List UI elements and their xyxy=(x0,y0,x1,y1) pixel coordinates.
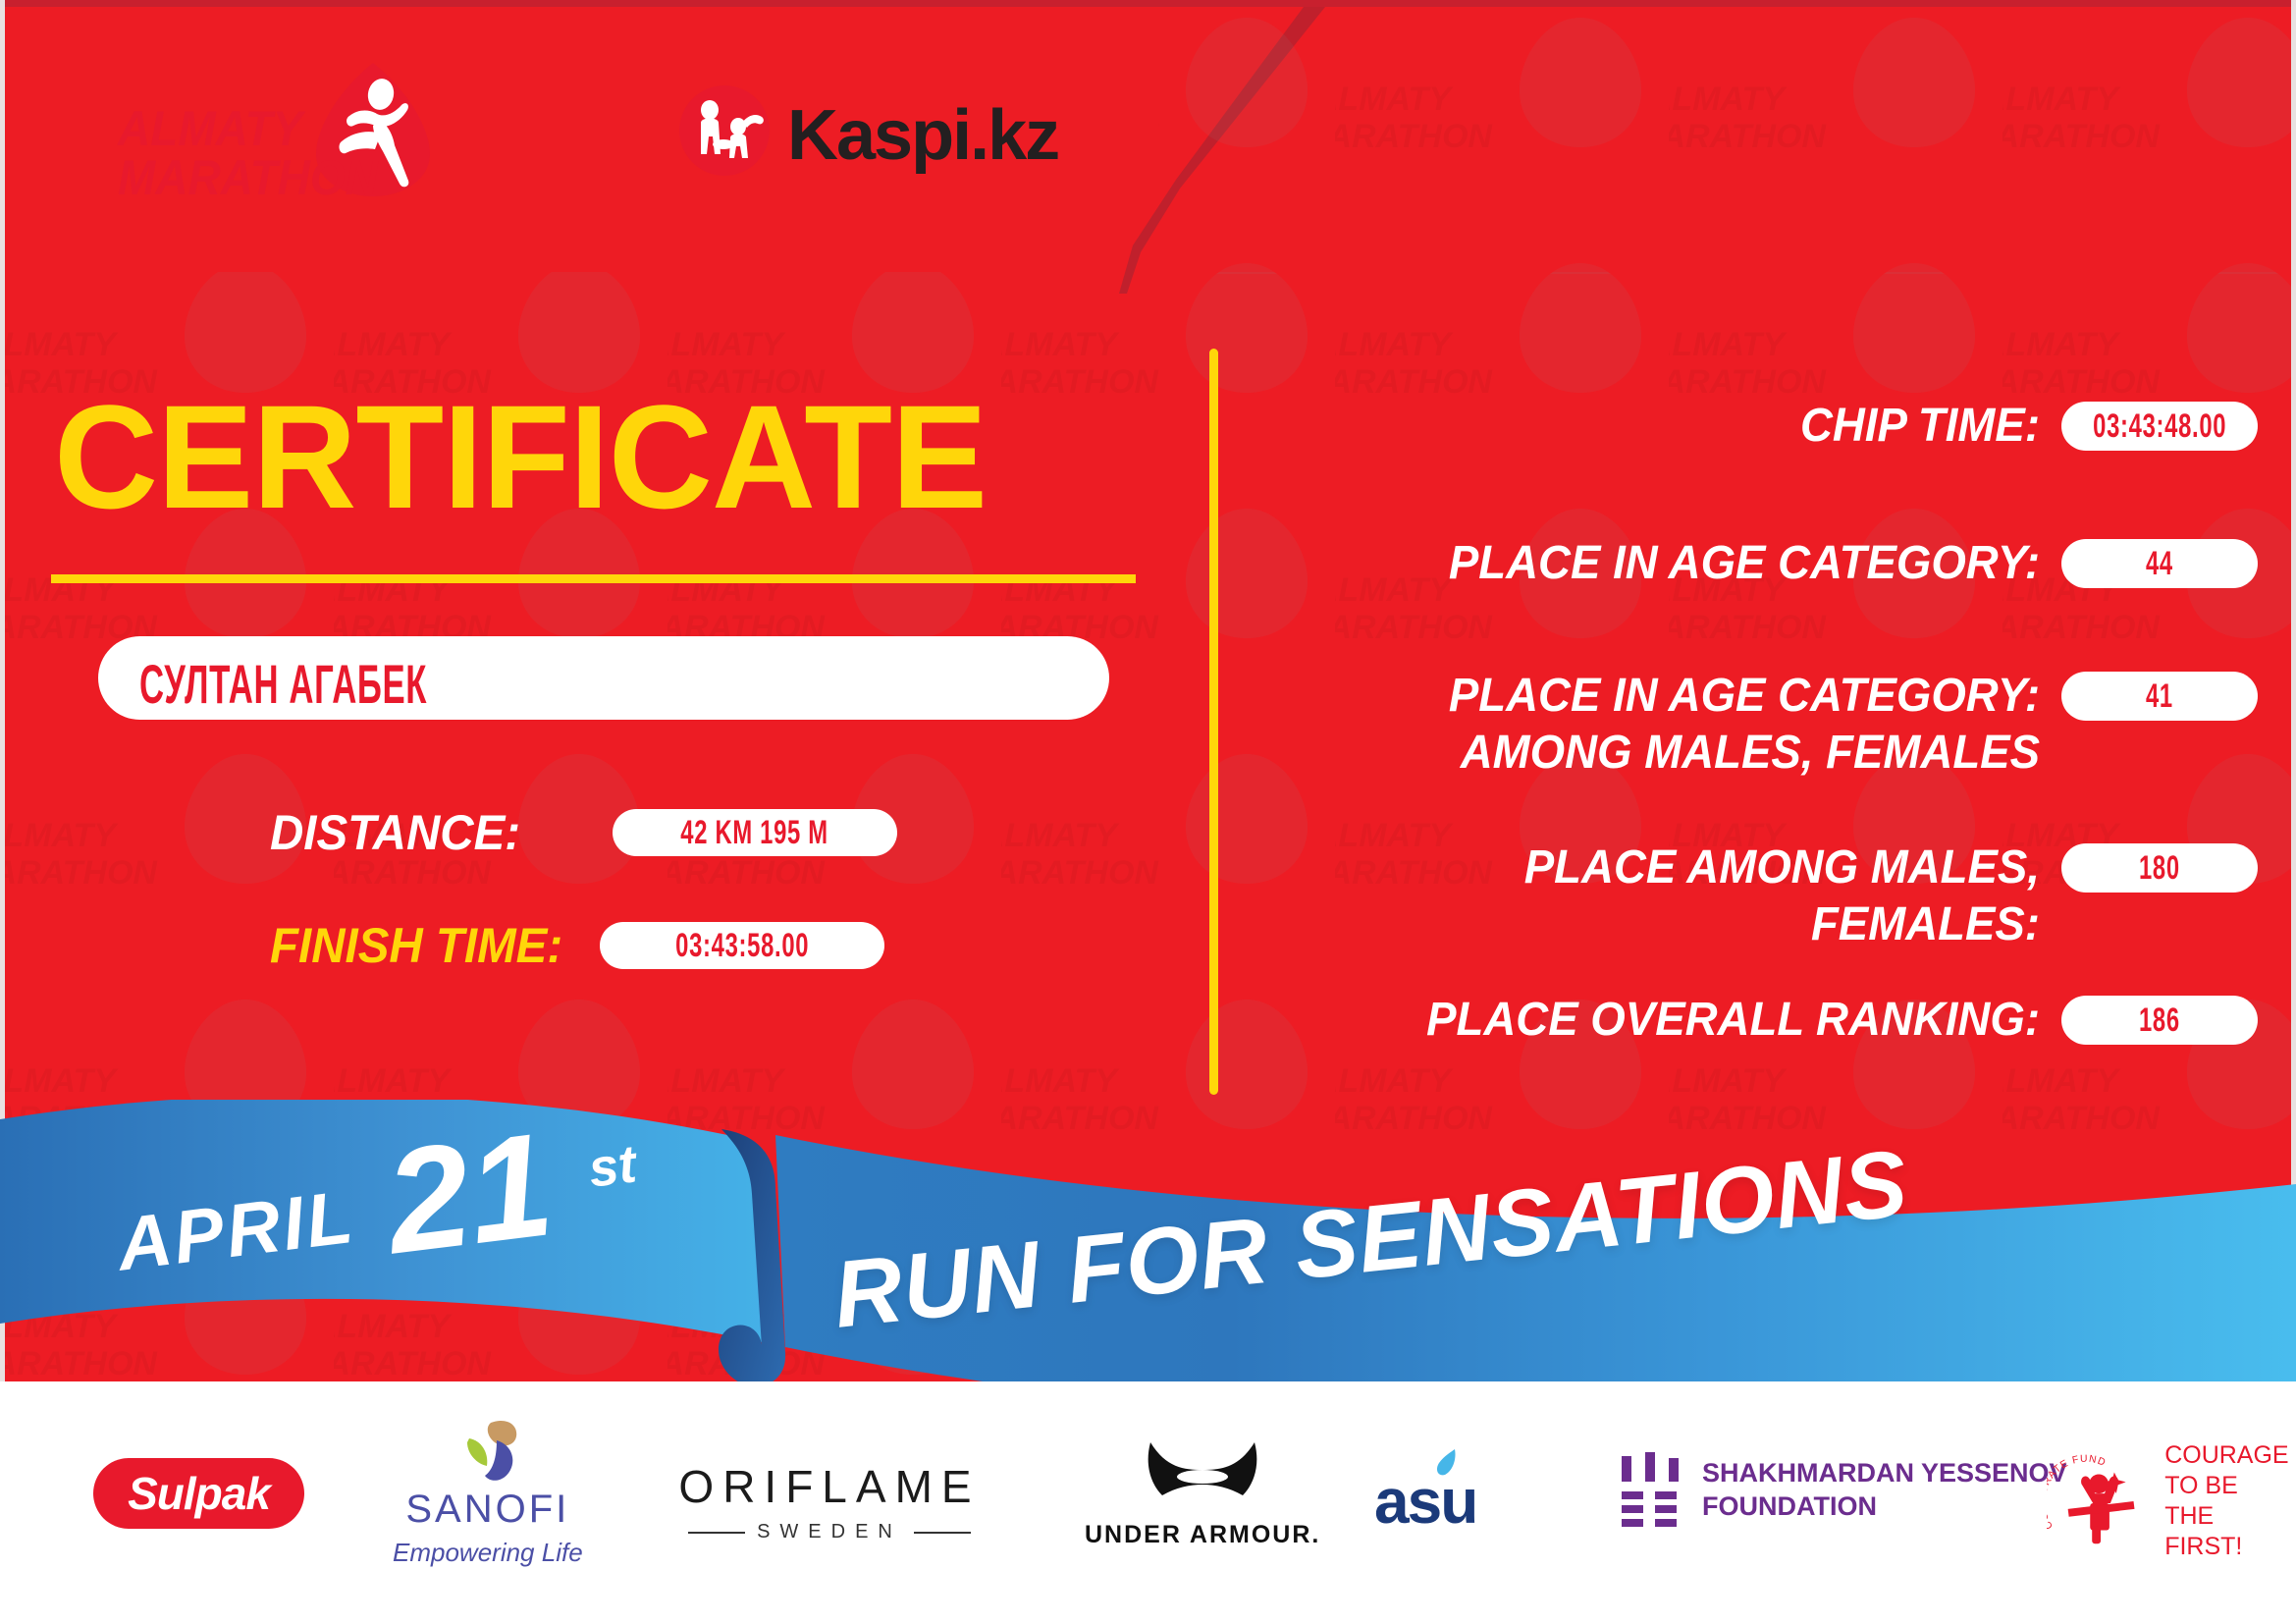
finish-time-value: 03:43:58.00 xyxy=(675,927,809,965)
stat-label: PLACE IN AGE CATEGORY: AMONG MALES, FEMA… xyxy=(1314,668,2040,782)
courage-runner-icon: CORPORATE FUND xyxy=(2047,1454,2151,1548)
top-border-rule xyxy=(0,0,2296,7)
sanofi-mark-icon xyxy=(446,1419,530,1488)
stat-row-place-among-males-females: PLACE AMONG MALES, FEMALES: 180 xyxy=(1276,839,2258,953)
stat-value-pill: 03:43:48.00 xyxy=(2061,402,2258,451)
yessenov-wordmark: SHAKHMARDAN YESSENOV FOUNDATION xyxy=(1702,1456,2067,1523)
column-divider xyxy=(1209,349,1218,1095)
oriflame-rule-left xyxy=(688,1532,745,1534)
stat-value: 03:43:48.00 xyxy=(2093,407,2226,446)
kaspi-people-icon xyxy=(677,83,772,178)
sulpak-wordmark: Sulpak xyxy=(128,1467,270,1520)
under-armour-icon xyxy=(1145,1438,1260,1515)
ribbon-day: 21 xyxy=(379,1110,560,1275)
finish-time-row: FINISH TIME: 03:43:58.00 xyxy=(270,918,884,973)
stat-value: 180 xyxy=(2139,849,2180,888)
stat-label: PLACE OVERALL RANKING: xyxy=(1314,992,2040,1049)
kaspi-wordmark: Kaspi.kz xyxy=(787,95,1058,176)
sponsor-asu: asu xyxy=(1374,1465,1476,1538)
athlete-name-field: СУЛТАН АГАБЕК xyxy=(98,636,1109,720)
asu-wordmark: asu xyxy=(1374,1466,1476,1537)
under-armour-wordmark: UNDER ARMOUR. xyxy=(1085,1521,1320,1549)
page-title: CERTIFICATE xyxy=(54,383,987,530)
oriflame-rule-right xyxy=(914,1532,971,1534)
almaty-marathon-wordmark: ALMATYMARATHON xyxy=(118,104,378,202)
stat-label: CHIP TIME: xyxy=(1314,398,2040,455)
sponsor-oriflame: ORIFLAME SWEDEN xyxy=(687,1460,972,1543)
distance-row: DISTANCE: 42 KM 195 M xyxy=(270,805,897,860)
athlete-name-value: СУЛТАН АГАБЕК xyxy=(139,652,427,716)
header: ALMATYMARATHON Kaspi.kz xyxy=(0,7,1227,272)
sponsor-sanofi: SANOFI Empowering Life xyxy=(393,1419,583,1568)
stat-value-pill: 41 xyxy=(2061,672,2258,721)
sanofi-tagline: Empowering Life xyxy=(393,1538,583,1568)
title-underline xyxy=(51,574,1136,583)
stat-value-pill: 180 xyxy=(2061,843,2258,893)
sponsor-yessenov-foundation: SHAKHMARDAN YESSENOV FOUNDATION xyxy=(1620,1452,2067,1527)
stat-value-pill: 186 xyxy=(2061,996,2258,1045)
red-header-wedge xyxy=(1119,7,2296,292)
finish-time-label: FINISH TIME: xyxy=(270,918,562,973)
sanofi-wordmark: SANOFI xyxy=(405,1488,569,1532)
asu-drop-icon xyxy=(1435,1449,1461,1477)
stat-label: PLACE IN AGE CATEGORY: xyxy=(1314,535,2040,592)
stat-row-place-age-category: PLACE IN AGE CATEGORY: 44 xyxy=(1276,535,2258,592)
sponsor-sulpak: Sulpak xyxy=(93,1458,304,1529)
oriflame-tagline-row: SWEDEN xyxy=(687,1521,972,1543)
kaspi-logo: Kaspi.kz xyxy=(677,76,1090,184)
sponsor-under-armour: UNDER ARMOUR. xyxy=(1085,1438,1320,1549)
finish-time-value-pill: 03:43:58.00 xyxy=(600,922,884,969)
ribbon-ordinal-suffix: st xyxy=(585,1133,639,1199)
yessenov-bars-icon xyxy=(1620,1452,1681,1527)
stat-label: PLACE AMONG MALES, FEMALES: xyxy=(1314,839,2040,953)
stat-row-place-age-category-among: PLACE IN AGE CATEGORY: AMONG MALES, FEMA… xyxy=(1276,668,2258,782)
oriflame-tagline: SWEDEN xyxy=(757,1521,902,1543)
stat-value: 44 xyxy=(2146,545,2173,583)
oriflame-wordmark: ORIFLAME xyxy=(678,1460,980,1513)
stat-row-chip-time: CHIP TIME: 03:43:48.00 xyxy=(1276,398,2258,455)
distance-label: DISTANCE: xyxy=(270,805,520,860)
distance-value-pill: 42 KM 195 M xyxy=(613,809,897,856)
stat-value: 186 xyxy=(2139,1001,2180,1040)
courage-row: CORPORATE FUND COURAGE TO BE THE FIRST! xyxy=(2047,1440,2296,1562)
sponsor-bar: Sulpak SANOFI Empowering Life ORIFLAME S… xyxy=(0,1381,2296,1624)
stat-row-place-overall-ranking: PLACE OVERALL RANKING: 186 xyxy=(1276,992,2258,1049)
almaty-marathon-logo: ALMATYMARATHON xyxy=(118,61,471,208)
sulpak-logo: Sulpak xyxy=(93,1458,304,1529)
stat-value: 41 xyxy=(2146,677,2173,716)
sponsor-courage-fund: CORPORATE FUND COURAGE TO BE THE FIRST! xyxy=(2047,1440,2296,1562)
distance-value: 42 KM 195 M xyxy=(680,814,828,852)
yessenov-row: SHAKHMARDAN YESSENOV FOUNDATION xyxy=(1620,1452,2067,1527)
courage-wordmark: COURAGE TO BE THE FIRST! xyxy=(2164,1440,2296,1562)
stat-value-pill: 44 xyxy=(2061,539,2258,588)
certificate-page: ALMATY MARATHON xyxy=(0,0,2296,1624)
